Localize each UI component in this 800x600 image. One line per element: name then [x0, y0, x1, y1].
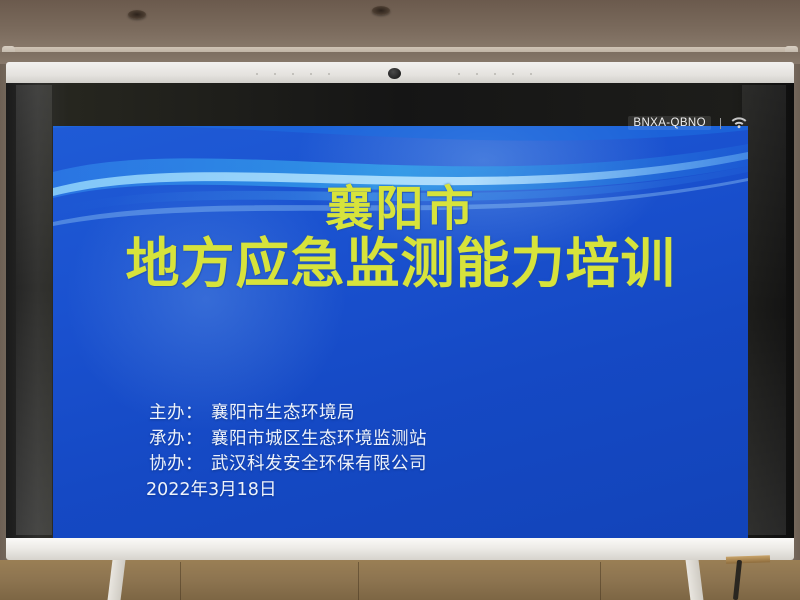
ceiling-light-icon — [372, 6, 390, 15]
microphone-icon — [530, 73, 532, 75]
ceiling — [0, 0, 800, 52]
ribbon-decoration — [53, 126, 748, 236]
ceiling-light-icon — [128, 10, 146, 19]
wifi-icon — [730, 116, 748, 130]
display-bottom-bezel — [6, 538, 794, 560]
bezel-reflection-left — [16, 85, 52, 535]
panel-seam — [600, 562, 601, 600]
microphone-icon — [458, 73, 460, 75]
microphone-icon — [328, 73, 330, 75]
panel-seam — [180, 562, 181, 600]
microphone-icon — [274, 73, 276, 75]
photo-scene: BNXA-QBNO 襄阳市 地方应急监测能力培训 主办：襄阳市生态环境局 — [0, 0, 800, 600]
status-badge[interactable]: BNXA-QBNO — [628, 116, 748, 130]
microphone-icon — [292, 73, 294, 75]
presentation-slide[interactable] — [53, 126, 748, 559]
display-top-bezel — [6, 62, 794, 84]
microphone-icon — [310, 73, 312, 75]
badge-divider — [720, 118, 721, 129]
microphone-icon — [494, 73, 496, 75]
camera-icon — [388, 68, 401, 79]
display-bezel: BNXA-QBNO 襄阳市 地方应急监测能力培训 主办：襄阳市生态环境局 — [6, 83, 794, 538]
interactive-flat-panel-display[interactable]: BNXA-QBNO 襄阳市 地方应急监测能力培训 主办：襄阳市生态环境局 — [6, 62, 794, 560]
microphone-icon — [512, 73, 514, 75]
panel-seam — [358, 562, 359, 600]
microphone-icon — [476, 73, 478, 75]
network-name-label: BNXA-QBNO — [628, 116, 711, 130]
bezel-reflection-right — [742, 85, 786, 535]
microphone-icon — [256, 73, 258, 75]
